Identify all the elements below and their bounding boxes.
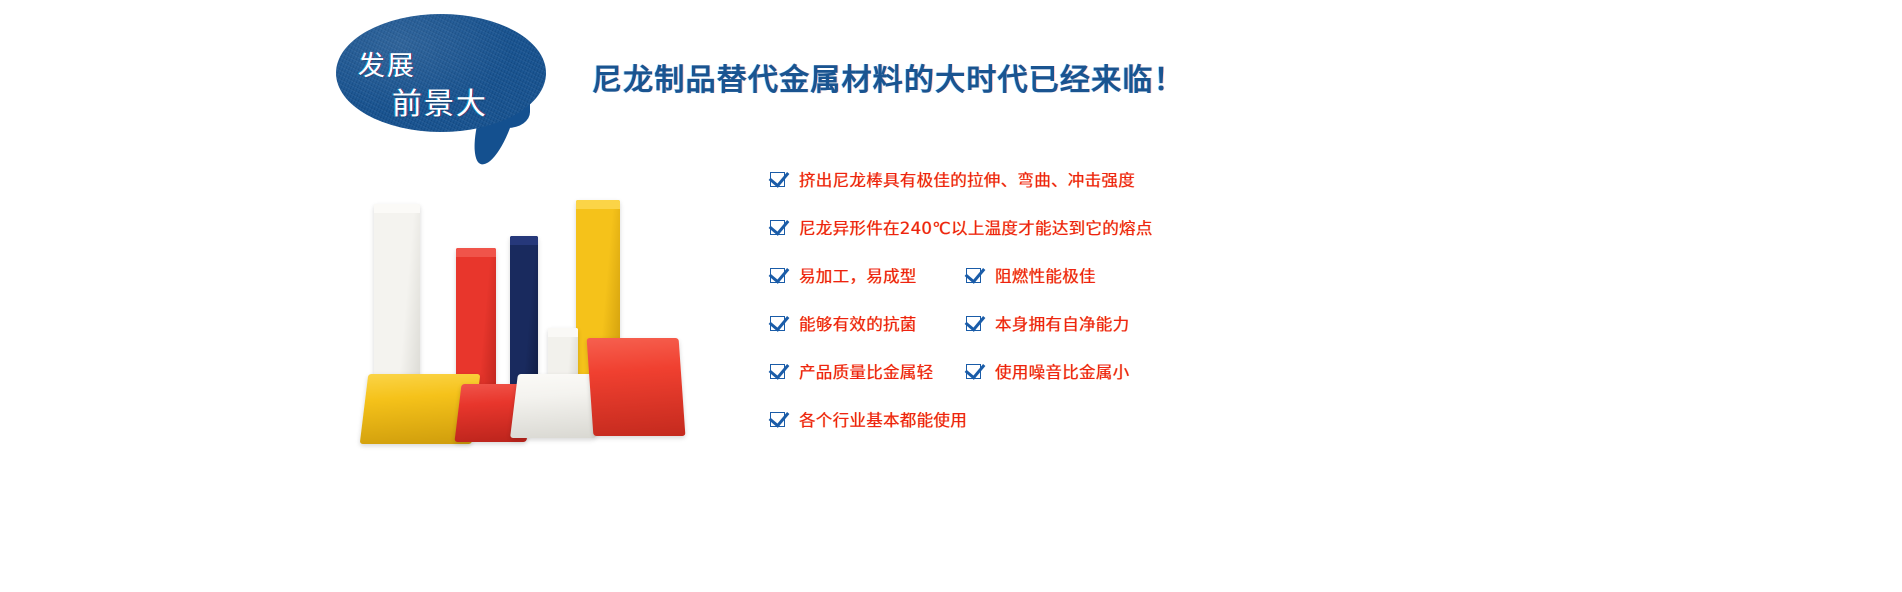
checklist-item: 尼龙异形件在240℃以上温度才能达到它的熔点 <box>770 203 1153 251</box>
checklist-item-label: 各个行业基本都能使用 <box>799 407 967 431</box>
yellow-bar-top-face <box>576 200 620 209</box>
checklist-item: 阻燃性能极佳 <box>966 251 1096 299</box>
red-bar-top-face <box>456 248 496 257</box>
checklist-row: 挤出尼龙棒具有极佳的拉伸、弯曲、冲击强度 <box>770 155 1410 203</box>
checkmark-icon <box>966 316 981 331</box>
checklist-item: 产品质量比金属轻 <box>770 347 933 395</box>
checklist-item-label: 挤出尼龙棒具有极佳的拉伸、弯曲、冲击强度 <box>799 167 1135 191</box>
checklist-row: 尼龙异形件在240℃以上温度才能达到它的熔点 <box>770 203 1410 251</box>
checklist-item: 各个行业基本都能使用 <box>770 395 967 443</box>
checklist-row: 能够有效的抗菌本身拥有自净能力 <box>770 299 1410 347</box>
bubble-line-2: 前景大 <box>392 79 488 123</box>
checklist-item-label: 易加工，易成型 <box>799 263 917 287</box>
checklist-row: 各个行业基本都能使用 <box>770 395 1410 443</box>
checklist-item: 本身拥有自净能力 <box>966 299 1129 347</box>
red-angle-right <box>587 338 686 436</box>
checkmark-icon <box>770 172 785 187</box>
checkmark-icon <box>770 220 785 235</box>
headline-text: 尼龙制品替代金属材料的大时代已经来临！ <box>592 55 1185 99</box>
checkmark-icon <box>770 316 785 331</box>
white-small-bar-top-face <box>548 328 578 337</box>
checklist-item-label: 能够有效的抗菌 <box>799 311 917 335</box>
speech-bubble: 发展 前景大 <box>336 14 546 162</box>
checkmark-icon <box>770 268 785 283</box>
checkmark-icon <box>966 268 981 283</box>
navy-bar-top-face <box>510 236 538 245</box>
feature-checklist: 挤出尼龙棒具有极佳的拉伸、弯曲、冲击强度尼龙异形件在240℃以上温度才能达到它的… <box>770 155 1410 443</box>
checklist-item: 使用噪音比金属小 <box>966 347 1129 395</box>
checklist-item: 易加工，易成型 <box>770 251 917 299</box>
checklist-row: 产品质量比金属轻使用噪音比金属小 <box>770 347 1410 395</box>
checklist-item: 能够有效的抗菌 <box>770 299 917 347</box>
checklist-item-label: 使用噪音比金属小 <box>995 359 1129 383</box>
speech-bubble-body: 发展 前景大 <box>336 14 546 132</box>
checkmark-icon <box>770 412 785 427</box>
checklist-item-label: 尼龙异形件在240℃以上温度才能达到它的熔点 <box>799 215 1153 239</box>
white-tall-bar-top-face <box>374 204 420 213</box>
checklist-item-label: 本身拥有自净能力 <box>995 311 1129 335</box>
checklist-item-label: 产品质量比金属轻 <box>799 359 933 383</box>
checklist-row: 易加工，易成型阻燃性能极佳 <box>770 251 1410 299</box>
checkmark-icon <box>770 364 785 379</box>
checklist-item-label: 阻燃性能极佳 <box>995 263 1096 287</box>
checklist-item: 挤出尼龙棒具有极佳的拉伸、弯曲、冲击强度 <box>770 155 1135 203</box>
product-photo <box>352 178 702 478</box>
promo-banner: 发展 前景大 尼龙制品替代金属材料的大时代已经来临！ 挤出尼龙棒具有极佳的拉伸、… <box>0 0 1902 592</box>
checkmark-icon <box>966 364 981 379</box>
bubble-line-1: 发展 <box>358 44 416 83</box>
